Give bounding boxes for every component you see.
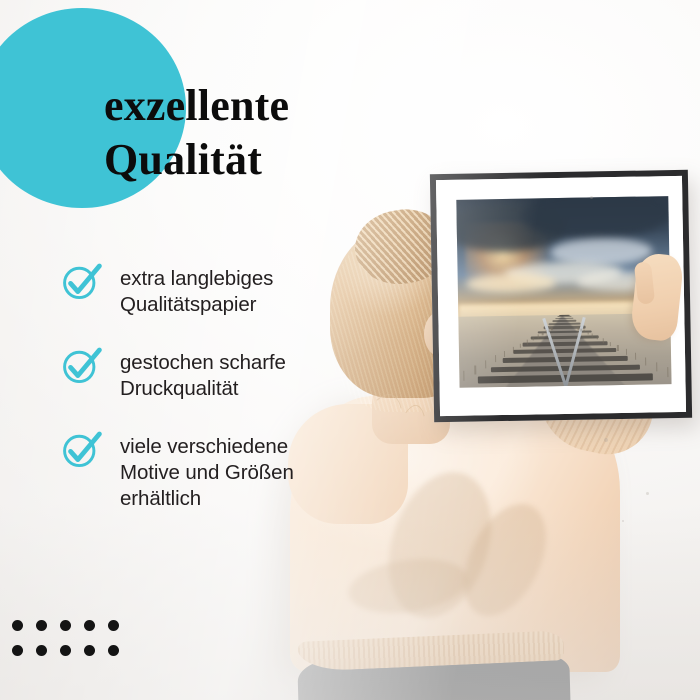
- grass-tick: [579, 328, 580, 330]
- railway-tie: [478, 374, 653, 383]
- dot: [36, 620, 47, 631]
- cloud: [456, 202, 567, 253]
- dot-row: [12, 645, 119, 656]
- railway-tie: [559, 315, 569, 316]
- grass-tick: [548, 329, 549, 332]
- dot-grid-decoration: [12, 620, 119, 670]
- grass-tick: [626, 349, 627, 355]
- feature-list: extra langlebigesQualitätspapiergestoche…: [60, 262, 390, 512]
- grass-tick: [617, 345, 618, 351]
- railway-tie: [560, 314, 569, 315]
- track-ballast: [493, 313, 638, 388]
- feature-item: extra langlebigesQualitätspapier: [60, 262, 390, 318]
- grass-tick: [550, 328, 551, 330]
- right-thumb: [634, 261, 655, 305]
- feature-text-line: extra langlebiges: [120, 266, 273, 292]
- check-circle-icon: [60, 344, 104, 388]
- grass-tick: [504, 351, 505, 357]
- horizon-band: [458, 301, 670, 320]
- wall-speck: [646, 492, 649, 495]
- grass-tick: [635, 353, 636, 360]
- feature-text: gestochen scharfeDruckqualität: [120, 346, 286, 402]
- grass-tick: [577, 327, 578, 329]
- page-title: exzellente Qualität: [104, 79, 524, 187]
- dot: [108, 645, 119, 656]
- ground-plane: [458, 313, 671, 388]
- right-hand: [630, 252, 685, 342]
- railway-tie: [544, 326, 586, 329]
- railway-tie: [531, 335, 599, 339]
- rail-right: [542, 318, 567, 387]
- artwork-railway-sunset: [456, 196, 671, 388]
- wall-speck: [622, 520, 624, 522]
- grass-tick: [597, 336, 598, 340]
- cloud: [466, 273, 555, 293]
- gray-pants: [297, 652, 570, 700]
- cloud: [550, 238, 652, 266]
- railway-tie: [523, 341, 608, 346]
- dot: [12, 645, 23, 656]
- railway-tie: [538, 330, 592, 333]
- marketing-graphic: exzellente Qualität extra langlebigesQua…: [0, 0, 700, 700]
- railway-tie: [513, 348, 616, 354]
- grass-tick: [592, 334, 593, 337]
- headline-line-2: Qualität: [104, 133, 524, 187]
- grass-tick: [485, 360, 486, 368]
- grass-tick: [610, 342, 611, 347]
- check-circle-icon: [60, 260, 104, 304]
- grass-tick: [546, 331, 547, 334]
- feature-text: extra langlebigesQualitätspapier: [120, 262, 273, 318]
- feature-item: viele verschiedeneMotive und Größenerhäl…: [60, 430, 390, 512]
- feature-text-line: Qualitätspapier: [120, 292, 273, 318]
- grass-tick: [551, 328, 552, 330]
- check-circle-icon: [60, 428, 104, 472]
- dot: [84, 645, 95, 656]
- feature-item: gestochen scharfeDruckqualität: [60, 346, 390, 402]
- sweater-fold: [345, 552, 471, 620]
- railway-tie: [557, 316, 571, 317]
- grass-tick: [533, 337, 534, 341]
- ear: [424, 312, 454, 356]
- dot: [36, 645, 47, 656]
- trackside-grass: [456, 196, 668, 200]
- sun-glow: [465, 221, 559, 290]
- cloud: [504, 261, 623, 286]
- grass-tick: [542, 332, 543, 335]
- railway-tie: [552, 320, 576, 322]
- grass-tick: [552, 328, 553, 330]
- grass-tick: [495, 355, 496, 362]
- feature-text-line: Motive und Größen: [120, 460, 294, 486]
- grass-tick: [581, 329, 582, 332]
- raised-right-arm: [527, 263, 682, 442]
- cloud: [576, 271, 670, 291]
- dot: [60, 620, 71, 631]
- cloud: [520, 196, 672, 240]
- wall-speck: [590, 196, 593, 199]
- feature-text-line: gestochen scharfe: [120, 350, 286, 376]
- sweater-fold: [371, 459, 509, 631]
- railway-tie: [555, 318, 573, 320]
- feature-text-line: erhältlich: [120, 486, 294, 512]
- railway-tracks: [456, 196, 668, 200]
- railway-tie: [559, 315, 570, 316]
- right-sleeve: [529, 325, 667, 463]
- dot: [12, 620, 23, 631]
- dot-row: [12, 620, 119, 631]
- feature-text-line: Druckqualität: [120, 376, 286, 402]
- wall-speck: [604, 438, 608, 442]
- dot: [60, 645, 71, 656]
- grass-tick: [538, 334, 539, 337]
- sweater-fold: [447, 491, 563, 630]
- dot: [108, 620, 119, 631]
- grass-tick: [603, 339, 604, 343]
- grass-tick: [667, 368, 668, 378]
- railway-tie: [503, 356, 628, 363]
- feature-text: viele verschiedeneMotive und Größenerhäl…: [120, 430, 294, 512]
- railway-tie: [463, 384, 667, 388]
- grass-tick: [463, 371, 464, 381]
- grass-tick: [527, 340, 528, 344]
- grass-tick: [645, 358, 646, 366]
- grass-tick: [578, 327, 579, 329]
- headline-line-1: exzellente: [104, 81, 289, 130]
- grass-tick: [512, 347, 513, 353]
- grass-tick: [656, 362, 657, 371]
- grass-tick: [587, 332, 588, 335]
- sweater-hem: [297, 630, 564, 672]
- railway-tie: [548, 323, 580, 325]
- framed-picture: [430, 170, 692, 422]
- railway-tie: [491, 364, 640, 372]
- dot: [84, 620, 95, 631]
- grass-tick: [520, 343, 521, 348]
- picture-mat: [436, 176, 686, 416]
- grass-tick: [475, 366, 476, 375]
- rail-left: [564, 317, 585, 387]
- grass-tick: [584, 330, 585, 333]
- feature-text-line: viele verschiedene: [120, 434, 294, 460]
